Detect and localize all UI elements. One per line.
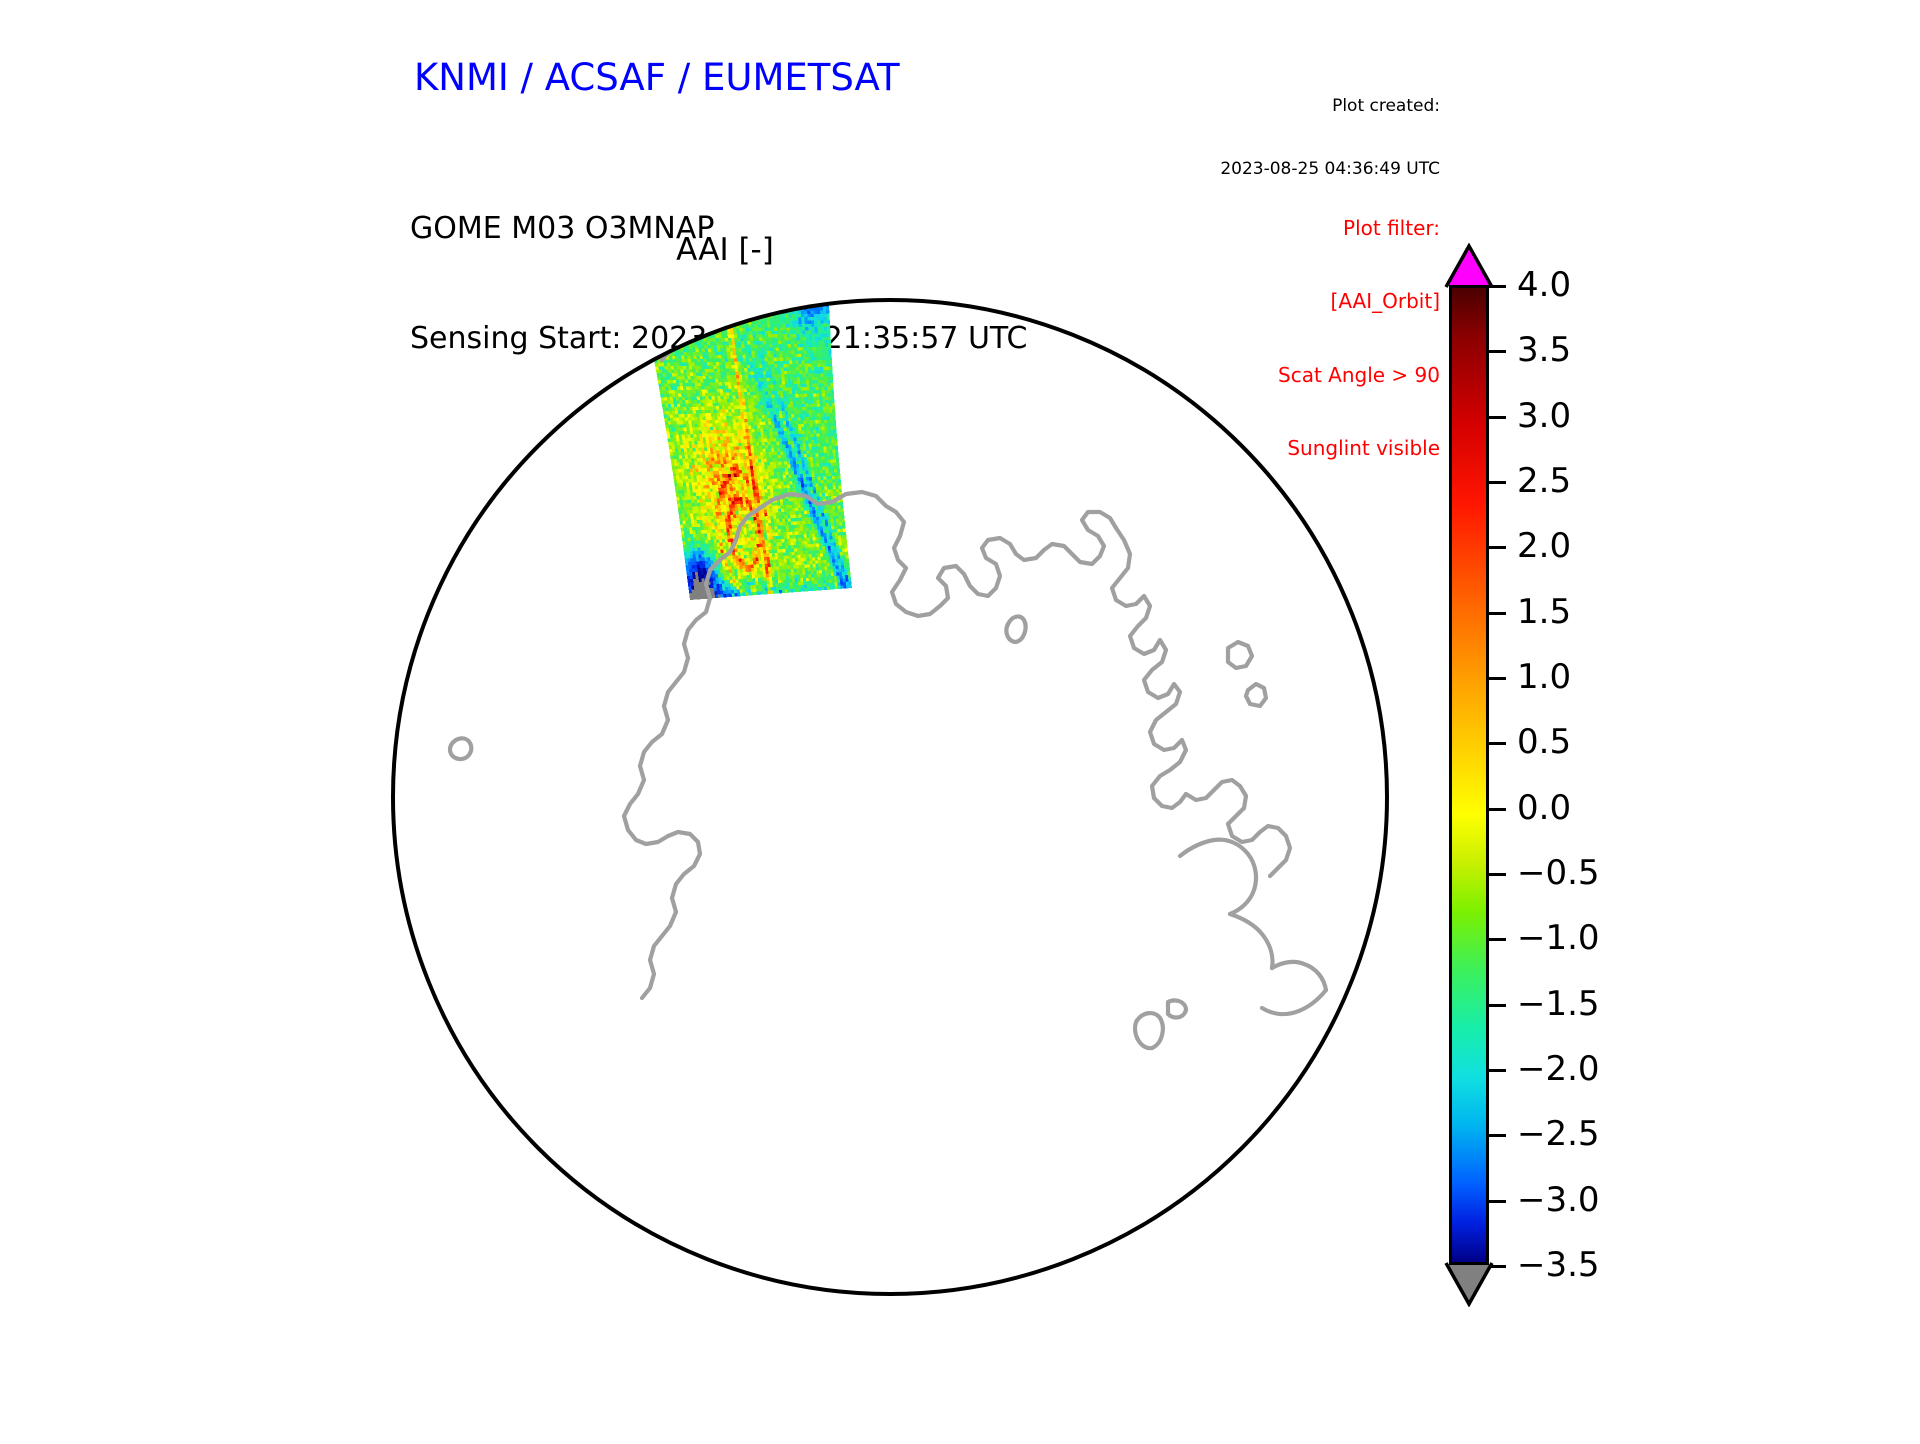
- coastline-path: [1230, 854, 1256, 914]
- coastline-path: [1246, 684, 1266, 706]
- colorbar-tick: [1489, 873, 1506, 876]
- colorbar-tick: [1489, 1265, 1506, 1268]
- polar-stereographic-map: [0, 0, 1450, 1440]
- colorbar-tick-label: 1.5: [1517, 592, 1571, 632]
- colorbar-tick: [1489, 416, 1506, 419]
- colorbar-tick-label: −1.5: [1517, 984, 1600, 1024]
- coastline-path: [716, 228, 747, 274]
- coastline-path: [598, 328, 624, 352]
- coastline-path: [1186, 780, 1290, 876]
- colorbar-tick: [1489, 808, 1506, 811]
- colorbar-tick-label: 3.0: [1517, 396, 1571, 436]
- coastline-layer: [450, 228, 1326, 1048]
- colorbar-tick: [1489, 612, 1506, 615]
- colorbar-tick-label: 0.5: [1517, 722, 1571, 762]
- colorbar-tick: [1489, 481, 1506, 484]
- colorbar-tick-label: 2.0: [1517, 526, 1571, 566]
- colorbar-tick-label: 0.0: [1517, 788, 1571, 828]
- colorbar-under-arrow-outline: [1443, 1261, 1495, 1307]
- aai-swath: [640, 284, 852, 600]
- colorbar-tick-label: 4.0: [1517, 265, 1571, 305]
- coastline-path: [1180, 840, 1248, 856]
- coastline-path: [1230, 914, 1273, 968]
- coastline-path: [674, 268, 694, 312]
- coastline-path: [682, 246, 717, 315]
- colorbar-tick: [1489, 1069, 1506, 1072]
- colorbar-tick-label: −3.0: [1517, 1180, 1600, 1220]
- colorbar-tick: [1489, 677, 1506, 680]
- coastline-path: [514, 310, 560, 342]
- coastline-path: [1262, 990, 1326, 1014]
- coastline-path: [1112, 528, 1186, 808]
- colorbar-tick-label: 1.0: [1517, 657, 1571, 697]
- colorbar: 4.03.53.02.52.01.51.00.50.0−0.5−1.0−1.5−…: [1449, 285, 1489, 1265]
- colorbar-tick: [1489, 1200, 1506, 1203]
- colorbar-tick-label: −3.5: [1517, 1245, 1600, 1285]
- colorbar-tick-label: −0.5: [1517, 853, 1600, 893]
- colorbar-tick-label: 3.5: [1517, 330, 1571, 370]
- colorbar-tick: [1489, 350, 1506, 353]
- coastline-path: [450, 738, 471, 759]
- colorbar-tick-label: −2.0: [1517, 1049, 1600, 1089]
- colorbar-gradient: [1449, 285, 1489, 1265]
- coastline-path: [1168, 1000, 1186, 1017]
- colorbar-tick: [1489, 285, 1506, 288]
- coastline-path: [1272, 962, 1326, 990]
- coastline-path: [1135, 1013, 1163, 1048]
- colorbar-tick-label: −1.0: [1517, 918, 1600, 958]
- colorbar-tick-label: −2.5: [1517, 1114, 1600, 1154]
- colorbar-tick: [1489, 546, 1506, 549]
- colorbar-tick: [1489, 1004, 1506, 1007]
- coastline-path: [1228, 642, 1252, 668]
- colorbar-tick-label: 2.5: [1517, 461, 1571, 501]
- map-canvas: [0, 0, 1450, 1440]
- colorbar-tick: [1489, 742, 1506, 745]
- colorbar-over-arrow-outline: [1443, 243, 1495, 289]
- globe-outline: [393, 300, 1387, 1294]
- coastline-path: [1006, 617, 1025, 642]
- colorbar-tick: [1489, 1134, 1506, 1137]
- colorbar-tick: [1489, 938, 1506, 941]
